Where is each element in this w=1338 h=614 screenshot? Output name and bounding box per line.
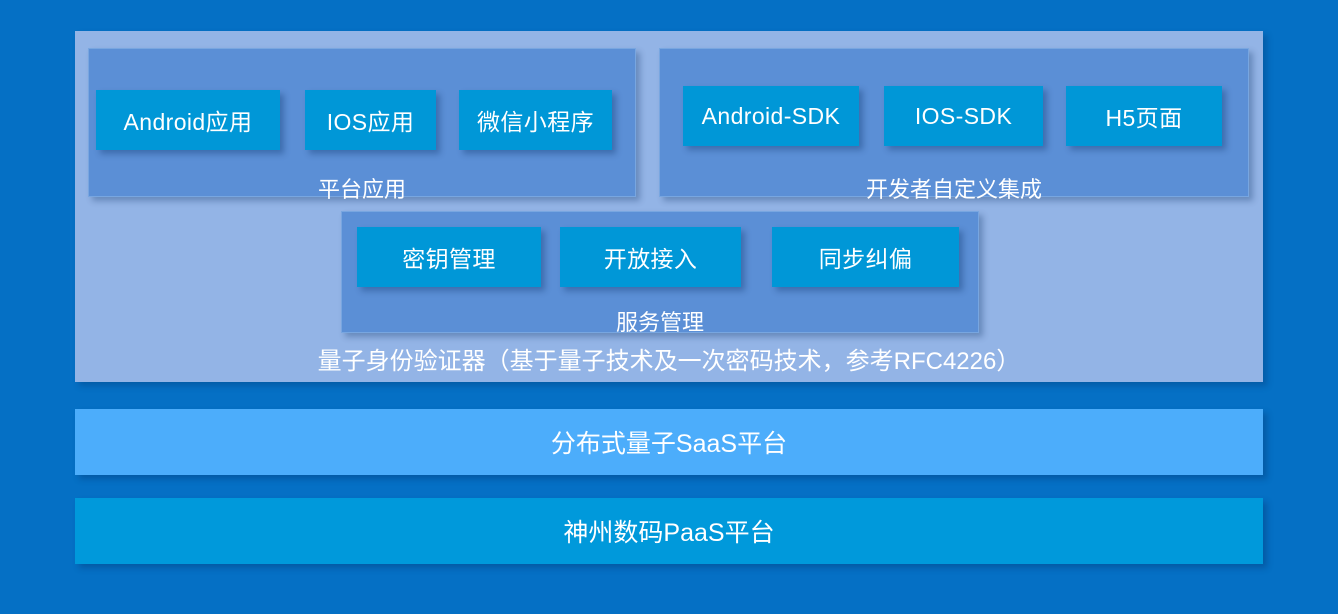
group-caption-service-management: 服务管理 <box>341 305 979 337</box>
box-sync-correction[interactable]: 同步纠偏 <box>772 227 959 287</box>
box-ios-sdk[interactable]: IOS-SDK <box>884 86 1043 146</box>
box-android-sdk[interactable]: Android-SDK <box>683 86 859 146</box>
box-open-access[interactable]: 开放接入 <box>560 227 741 287</box>
box-ios-app[interactable]: IOS应用 <box>305 90 436 150</box>
card-caption-quantum-validator: 量子身份验证器（基于量子技术及一次密码技术，参考RFC4226） <box>75 341 1263 376</box>
group-caption-developer-integration: 开发者自定义集成 <box>659 172 1249 204</box>
platform-bar-saas[interactable]: 分布式量子SaaS平台 <box>75 409 1263 475</box>
group-caption-platform-apps: 平台应用 <box>88 172 636 204</box>
box-wechat-mini-program[interactable]: 微信小程序 <box>459 90 612 150</box>
platform-bar-paas[interactable]: 神州数码PaaS平台 <box>75 498 1263 564</box>
box-h5-page[interactable]: H5页面 <box>1066 86 1222 146</box>
box-android-app[interactable]: Android应用 <box>96 90 280 150</box>
box-key-management[interactable]: 密钥管理 <box>357 227 541 287</box>
